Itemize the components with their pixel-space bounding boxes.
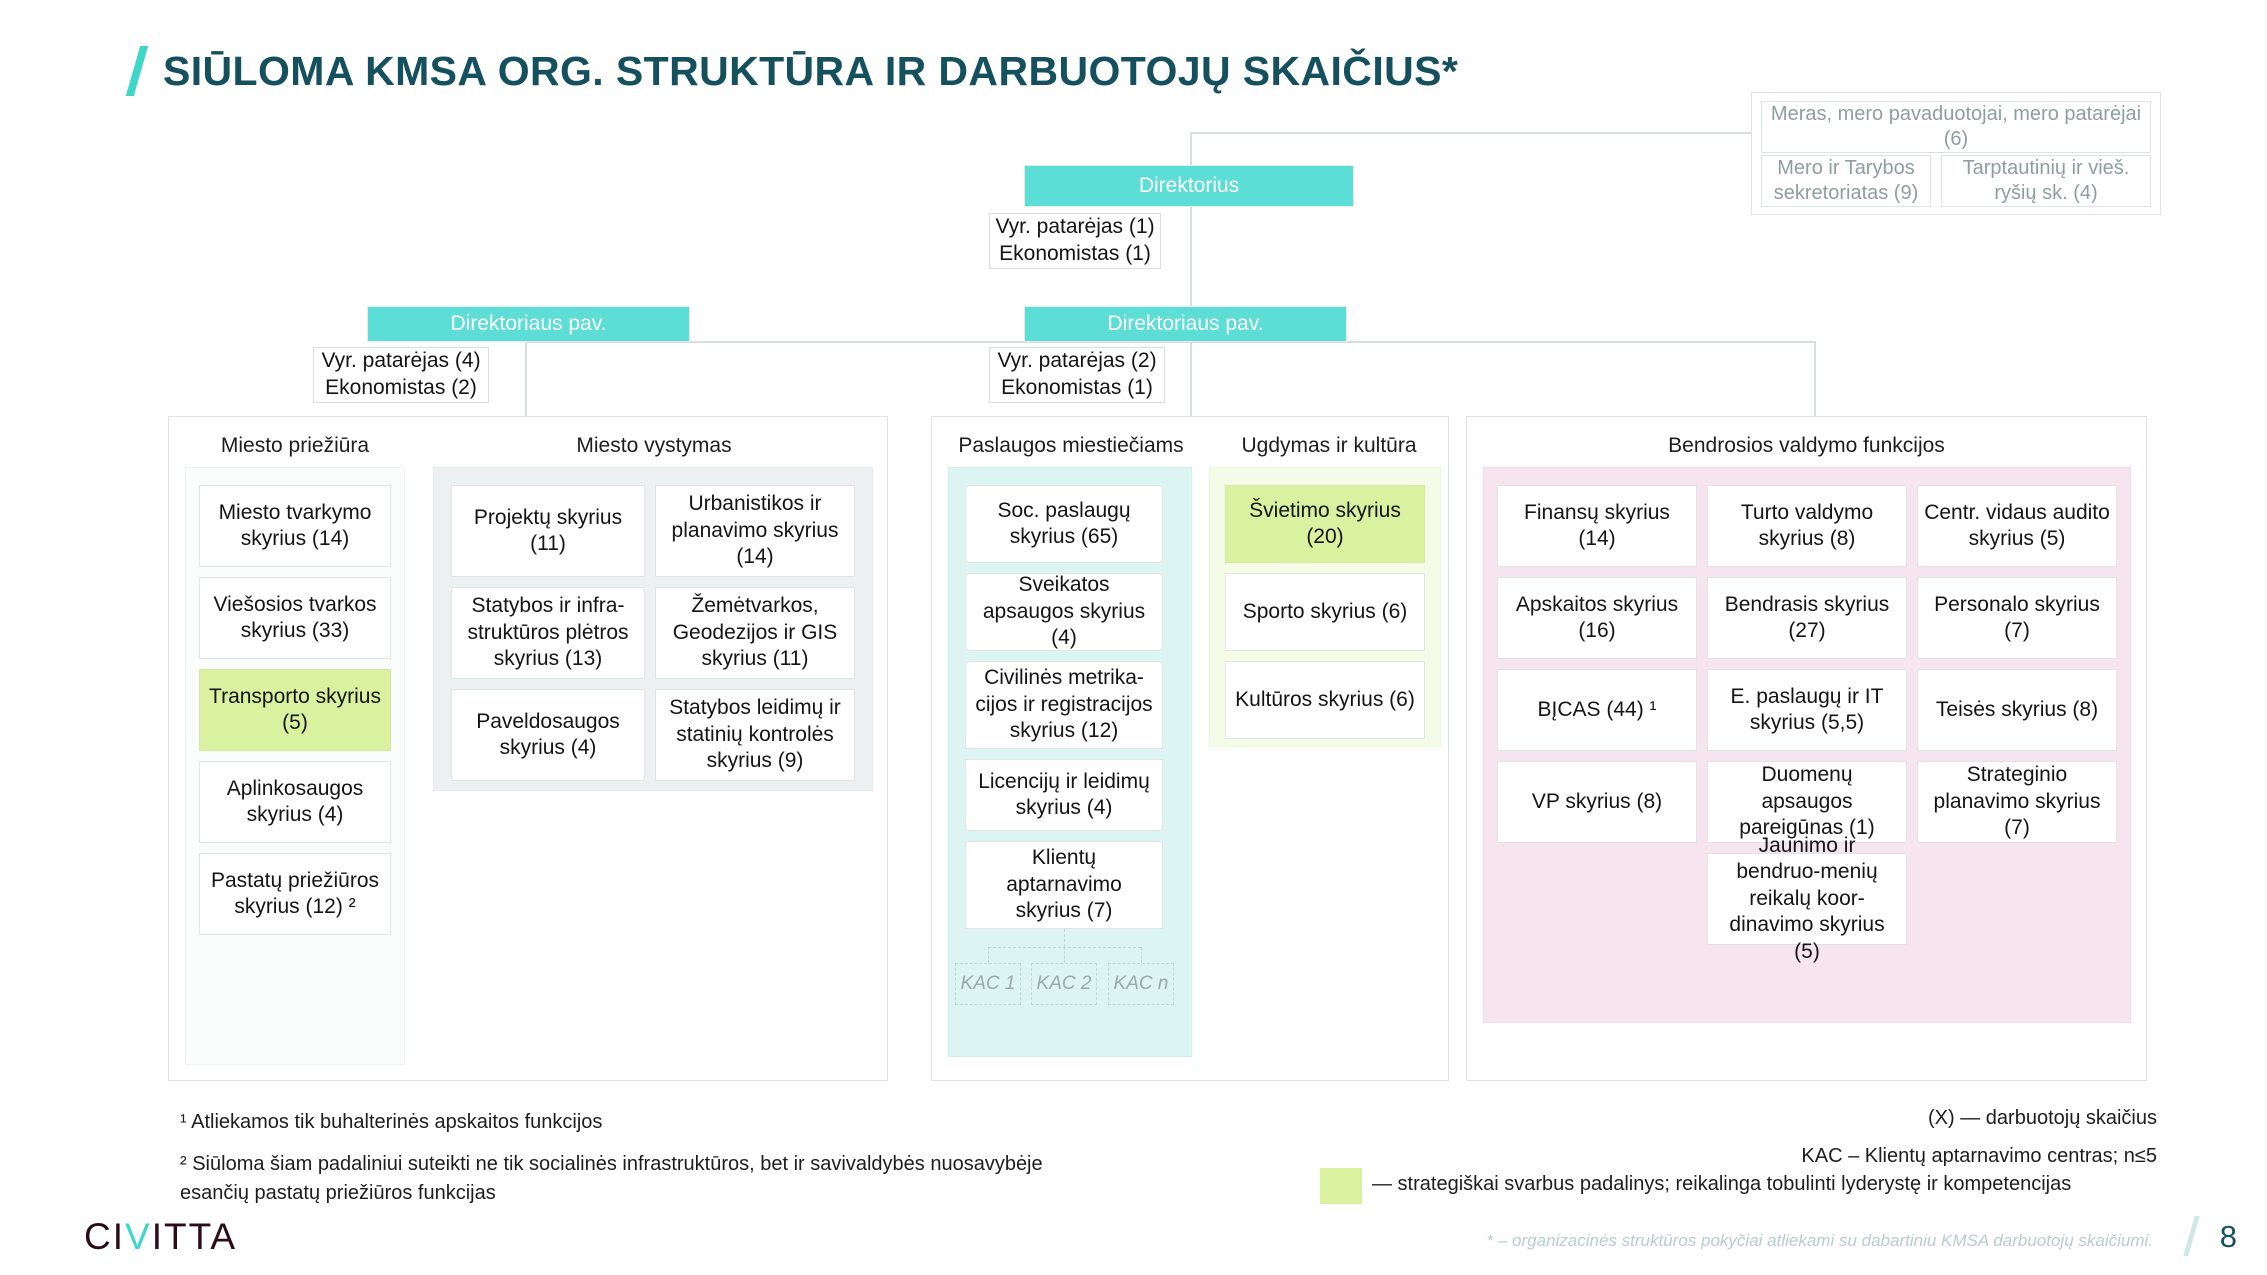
unit-label: Viešosios tvarkos skyrius (33) <box>206 592 384 645</box>
logo-part-a: CI <box>84 1216 125 1257</box>
unit-label: Paveldosaugos skyrius (4) <box>458 709 638 762</box>
director-bar[interactable]: Direktorius <box>1024 165 1354 207</box>
unit-box[interactable]: Aplinkosaugos skyrius (4) <box>199 761 391 843</box>
unit-box[interactable]: Kultūros skyrius (6) <box>1225 661 1425 739</box>
connector-to-left-panel <box>525 341 527 416</box>
unit-box[interactable]: Klientų aptarnavimo skyrius (7) <box>965 841 1163 929</box>
unit-box[interactable]: Žemėtvarkos, Geodezijos ir GIS skyrius (… <box>655 587 855 679</box>
unit-label: Transporto skyrius (5) <box>206 684 384 737</box>
unit-box-highlighted[interactable]: Transporto skyrius (5) <box>199 669 391 751</box>
deputy-right-advisors-box: Vyr. patarėjas (2) Ekonomistas (1) <box>989 347 1165 403</box>
unit-box[interactable]: Urbanistikos ir planavimo skyrius (14) <box>655 485 855 577</box>
unit-label: Urbanistikos ir planavimo skyrius (14) <box>662 491 848 570</box>
footnote-two: ² Siūloma šiam padaliniui suteikti ne ti… <box>180 1150 1060 1208</box>
legend-strategic-unit: — strategiškai svarbus padalinys; reikal… <box>1372 1173 2071 1196</box>
unit-label: Civilinės metrika-cijos ir registracijos… <box>972 665 1156 744</box>
deputy-right-bar[interactable]: Direktoriaus pav. <box>1024 306 1347 342</box>
unit-label: Teisės skyrius (8) <box>1936 697 2098 723</box>
unit-box[interactable]: Finansų skyrius (14) <box>1497 485 1697 567</box>
panel-head-education-culture: Ugdymas ir kultūra <box>1210 434 1448 458</box>
unit-box[interactable]: Statybos leidimų ir statinių kontrolės s… <box>655 689 855 781</box>
title-accent-slash-icon <box>126 46 148 96</box>
unit-box[interactable]: Duomenų apsaugos pareigūnas (1) <box>1707 761 1907 843</box>
unit-label: Duomenų apsaugos pareigūnas (1) <box>1714 762 1900 841</box>
deputy-right-advisor-lines: Vyr. patarėjas (2) Ekonomistas (1) <box>997 348 1156 402</box>
page-accent-slash-icon <box>2183 1216 2199 1256</box>
panel-head-city-maintenance: Miesto priežiūra <box>169 434 421 458</box>
unit-label: Sporto skyrius (6) <box>1243 599 1408 625</box>
unit-label: Apskaitos skyrius (16) <box>1504 592 1690 645</box>
civitta-logo: CIVITTA <box>84 1216 237 1258</box>
legend-employee-count: (X) — darbuotojų skaičius <box>1928 1107 2157 1130</box>
unit-box[interactable]: Pastatų priežiūros skyrius (12) ² <box>199 853 391 935</box>
international-pr-box: Tarptautinių ir vieš. ryšių sk. (4) <box>1941 155 2151 207</box>
unit-box-highlighted[interactable]: Švietimo skyrius (20) <box>1225 485 1425 563</box>
unit-box[interactable]: Sveikatos apsaugos skyrius (4) <box>965 573 1163 651</box>
unit-label: Soc. paslaugų skyrius (65) <box>972 498 1156 551</box>
unit-label: Strateginio planavimo skyrius (7) <box>1924 762 2110 841</box>
slide-canvas: SIŪLOMA KMSA ORG. STRUKTŪRA IR DARBUOTOJ… <box>0 0 2267 1275</box>
unit-box[interactable]: Soc. paslaugų skyrius (65) <box>965 485 1163 563</box>
unit-box[interactable]: E. paslaugų ir IT skyrius (5,5) <box>1707 669 1907 751</box>
unit-label: VP skyrius (8) <box>1532 789 1662 815</box>
unit-label: Žemėtvarkos, Geodezijos ir GIS skyrius (… <box>662 593 848 672</box>
unit-label: Centr. vidaus audito skyrius (5) <box>1924 500 2110 553</box>
unit-label: Statybos ir infra-struktūros plėtros sky… <box>458 593 638 672</box>
panel-head-services: Paslaugos miestiečiams <box>932 434 1210 458</box>
mayor-box: Meras, mero pavaduotojai, mero patarėjai… <box>1761 101 2151 153</box>
unit-label: Bendrasis skyrius (27) <box>1714 592 1900 645</box>
unit-box[interactable]: Sporto skyrius (6) <box>1225 573 1425 651</box>
unit-label: Licencijų ir leidimų skyrius (4) <box>972 769 1156 822</box>
unit-box[interactable]: Viešosios tvarkos skyrius (33) <box>199 577 391 659</box>
unit-label: Pastatų priežiūros skyrius (12) ² <box>206 868 384 921</box>
unit-box[interactable]: Bendrasis skyrius (27) <box>1707 577 1907 659</box>
kac-box[interactable]: KAC 1 <box>955 963 1021 1005</box>
unit-label: Statybos leidimų ir statinių kontrolės s… <box>662 695 848 774</box>
kac-box[interactable]: KAC n <box>1108 963 1174 1005</box>
kac-connector-stem <box>1064 929 1065 947</box>
unit-label: Klientų aptarnavimo skyrius (7) <box>972 845 1156 924</box>
deputy-left-bar[interactable]: Direktoriaus pav. <box>367 306 690 342</box>
page-title: SIŪLOMA KMSA ORG. STRUKTŪRA IR DARBUOTOJ… <box>133 46 1458 96</box>
director-advisors-box: Vyr. patarėjas (1) Ekonomistas (1) <box>989 213 1161 269</box>
panel-general-management: Bendrosios valdymo funkcijos Finansų sky… <box>1466 416 2147 1081</box>
logo-part-v: V <box>125 1216 152 1257</box>
legend-kac: KAC – Klientų aptarnavimo centras; n≤5 <box>1801 1145 2157 1168</box>
panel-head-general-management: Bendrosios valdymo funkcijos <box>1467 434 2146 458</box>
unit-box[interactable]: Licencijų ir leidimų skyrius (4) <box>965 759 1163 831</box>
connector-to-mayor <box>1190 132 1753 134</box>
unit-label: Turto valdymo skyrius (8) <box>1714 500 1900 553</box>
unit-label: Jaunimo ir bendruo-menių reikalų koor-di… <box>1714 833 1900 965</box>
unit-box[interactable]: Personalo skyrius (7) <box>1917 577 2117 659</box>
title-text: SIŪLOMA KMSA ORG. STRUKTŪRA IR DARBUOTOJ… <box>163 48 1458 95</box>
unit-box[interactable]: Centr. vidaus audito skyrius (5) <box>1917 485 2117 567</box>
unit-box[interactable]: Projektų skyrius (11) <box>451 485 645 577</box>
mayor-secretariat-box: Mero ir Tarybos sekretoriatas (9) <box>1761 155 1931 207</box>
unit-label: E. paslaugų ir IT skyrius (5,5) <box>1714 684 1900 737</box>
deputy-left-advisor-lines: Vyr. patarėjas (4) Ekonomistas (2) <box>321 348 480 402</box>
unit-box[interactable]: Teisės skyrius (8) <box>1917 669 2117 751</box>
unit-label: Sveikatos apsaugos skyrius (4) <box>972 572 1156 651</box>
unit-box[interactable]: Jaunimo ir bendruo-menių reikalų koor-di… <box>1707 853 1907 945</box>
footer-note: * – organizacinės struktūros pokyčiai at… <box>1487 1231 2153 1251</box>
panel-head-city-development: Miesto vystymas <box>421 434 887 458</box>
unit-label: Finansų skyrius (14) <box>1504 500 1690 553</box>
unit-box[interactable]: BĮCAS (44) ¹ <box>1497 669 1697 751</box>
page-number: 8 <box>2220 1219 2237 1255</box>
unit-label: Projektų skyrius (11) <box>458 505 638 558</box>
unit-label: Švietimo skyrius (20) <box>1232 498 1418 551</box>
unit-box[interactable]: Turto valdymo skyrius (8) <box>1707 485 1907 567</box>
legend-green-swatch-icon <box>1320 1168 1362 1204</box>
logo-part-b: ITTA <box>152 1216 237 1257</box>
connector-to-right-panel <box>1814 341 1816 416</box>
unit-label: Kultūros skyrius (6) <box>1235 687 1415 713</box>
unit-label: BĮCAS (44) ¹ <box>1537 697 1656 723</box>
unit-label: Miesto tvarkymo skyrius (14) <box>206 500 384 553</box>
unit-box[interactable]: Strateginio planavimo skyrius (7) <box>1917 761 2117 843</box>
unit-box[interactable]: VP skyrius (8) <box>1497 761 1697 843</box>
deputy-left-advisors-box: Vyr. patarėjas (4) Ekonomistas (2) <box>313 347 489 403</box>
panel-city-maintenance-development: Miesto priežiūra Miesto vystymas Miesto … <box>168 416 888 1081</box>
director-advisor-line-1: Vyr. patarėjas (1) Ekonomistas (1) <box>995 214 1154 268</box>
unit-box[interactable]: Miesto tvarkymo skyrius (14) <box>199 485 391 567</box>
panel-services-education: Paslaugos miestiečiams Ugdymas ir kultūr… <box>931 416 1449 1081</box>
unit-label: Aplinkosaugos skyrius (4) <box>206 776 384 829</box>
kac-box[interactable]: KAC 2 <box>1031 963 1097 1005</box>
kac-connector-drop-2 <box>1064 947 1065 963</box>
footnote-one: ¹ Atliekamos tik buhalterinės apskaitos … <box>180 1108 1180 1137</box>
connector-to-mid-panel <box>1190 341 1192 416</box>
kac-connector-drop-1 <box>988 947 989 963</box>
unit-box[interactable]: Paveldosaugos skyrius (4) <box>451 689 645 781</box>
unit-box[interactable]: Civilinės metrika-cijos ir registracijos… <box>965 661 1163 749</box>
unit-box[interactable]: Apskaitos skyrius (16) <box>1497 577 1697 659</box>
unit-label: Personalo skyrius (7) <box>1924 592 2110 645</box>
kac-connector-drop-3 <box>1141 947 1142 963</box>
unit-box[interactable]: Statybos ir infra-struktūros plėtros sky… <box>451 587 645 679</box>
mayor-group: Meras, mero pavaduotojai, mero patarėjai… <box>1751 92 2161 215</box>
